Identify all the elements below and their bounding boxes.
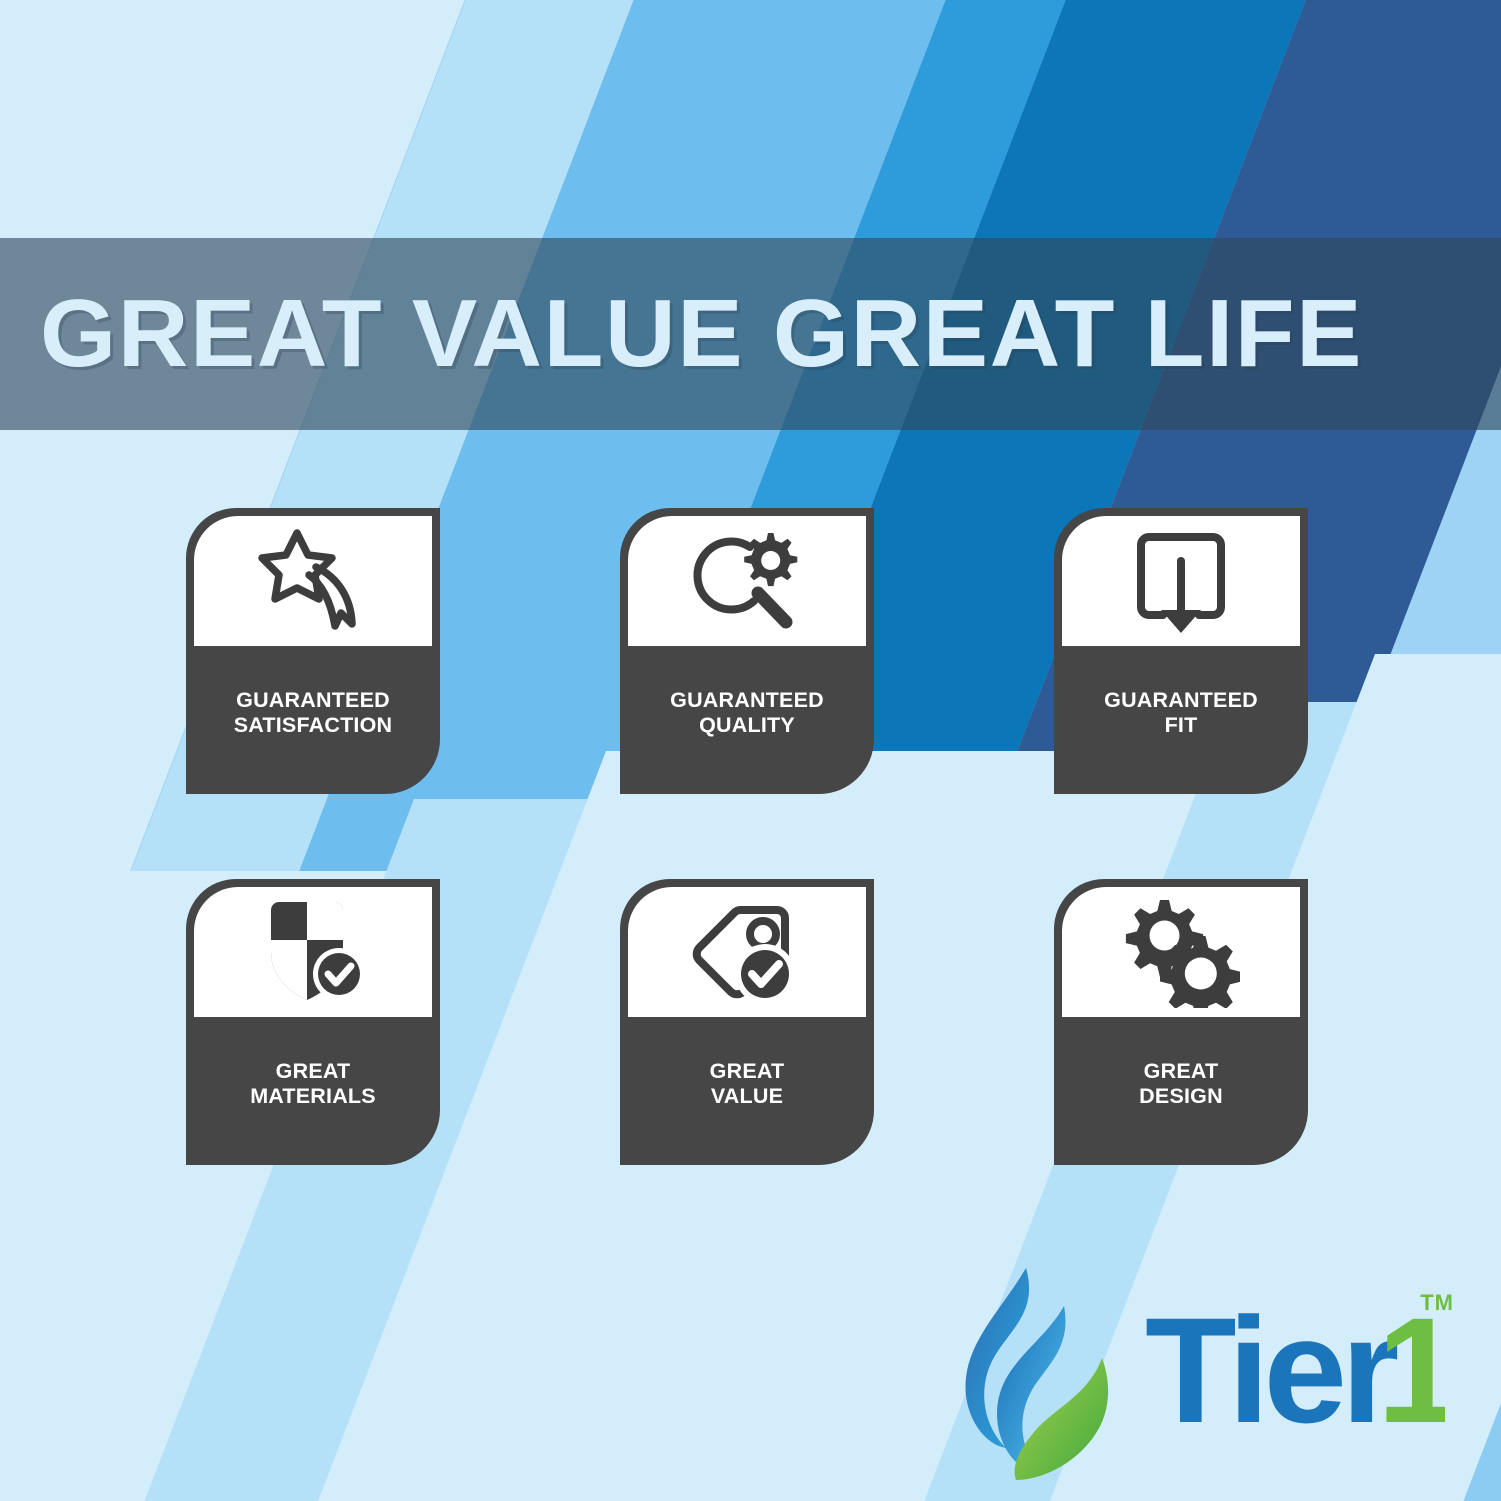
trademark-symbol: TM (1420, 1290, 1454, 1316)
water-drop-leaf-icon (960, 1262, 1135, 1487)
feature-card-label: GUARANTEEDFIT (1062, 646, 1300, 794)
feature-card-great-value[interactable]: GREATVALUE (620, 879, 874, 1165)
shooting-star-icon (194, 516, 432, 646)
feature-card-great-design[interactable]: GREATDESIGN (1054, 879, 1308, 1165)
svg-text:Tier: Tier (1145, 1294, 1398, 1454)
tier1-logo[interactable]: Tier 1 TM (960, 1262, 1460, 1487)
magnifier-gear-icon (628, 516, 866, 646)
feature-card-great-materials[interactable]: GREATMATERIALS (186, 879, 440, 1165)
feature-card-label: GREATDESIGN (1062, 1017, 1300, 1165)
svg-text:1: 1 (1377, 1294, 1445, 1454)
feature-card-grid: GUARANTEEDSATISFACTION GUARANTEEDQUALITY (186, 508, 1336, 1165)
arrow-into-box-icon (1062, 516, 1300, 646)
page-title: GREAT VALUE GREAT LIFE (40, 279, 1363, 389)
feature-card-label: GREATVALUE (628, 1017, 866, 1165)
feature-card-label: GUARANTEEDQUALITY (628, 646, 866, 794)
tier1-wordmark: Tier 1 (1145, 1294, 1445, 1459)
feature-card-guaranteed-fit[interactable]: GUARANTEEDFIT (1054, 508, 1308, 794)
feature-card-guaranteed-quality[interactable]: GUARANTEEDQUALITY (620, 508, 874, 794)
feature-card-label: GREATMATERIALS (194, 1017, 432, 1165)
feature-card-guaranteed-satisfaction[interactable]: GUARANTEEDSATISFACTION (186, 508, 440, 794)
shield-check-icon (194, 887, 432, 1017)
title-banner: GREAT VALUE GREAT LIFE (0, 238, 1501, 430)
price-tag-check-icon (628, 887, 866, 1017)
feature-card-label: GUARANTEEDSATISFACTION (194, 646, 432, 794)
two-gears-icon (1062, 887, 1300, 1017)
poster: GREAT VALUE GREAT LIFE GUARANTEEDSATISFA… (0, 0, 1501, 1501)
